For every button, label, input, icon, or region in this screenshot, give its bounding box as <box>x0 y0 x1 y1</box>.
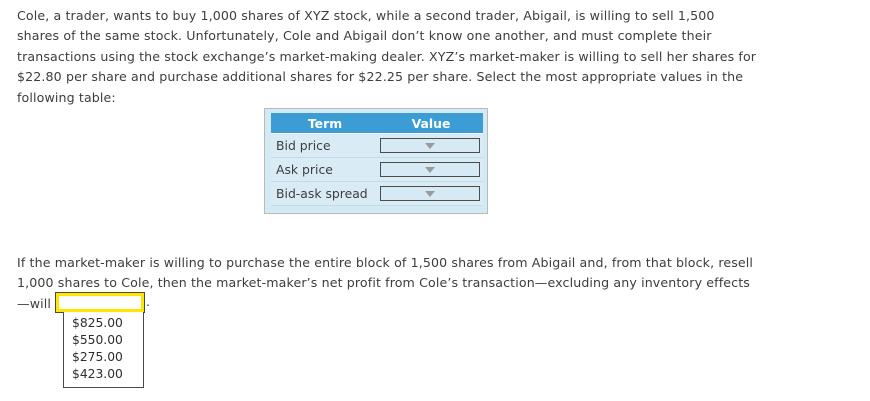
bid-ask-spread-select[interactable] <box>380 186 480 201</box>
row-label-ask-price: Ask price <box>271 158 379 182</box>
chevron-down-icon <box>425 191 435 197</box>
chevron-down-icon <box>425 167 435 173</box>
ask-price-select[interactable] <box>380 162 480 177</box>
column-header-term: Term <box>271 113 379 134</box>
row-label-bid-ask-spread: Bid-ask spread <box>271 182 379 206</box>
answer-select-input[interactable] <box>56 293 144 312</box>
table-row: Bid price <box>271 134 483 158</box>
answer-dropdown: $825.00 $550.00 $275.00 $423.00 <box>56 293 144 312</box>
option-item[interactable]: $825.00 <box>64 315 143 332</box>
chevron-down-icon <box>425 143 435 149</box>
option-item[interactable]: $423.00 <box>64 366 143 383</box>
value-cell-bid-ask-spread <box>379 182 483 206</box>
table-body: Bid price Ask price Bid-ask spread <box>271 134 483 206</box>
table-header-row: Term Value <box>271 113 483 134</box>
table-row: Bid-ask spread <box>271 182 483 206</box>
table: Term Value Bid price Ask price <box>271 113 483 206</box>
intro-paragraph: Cole, a trader, wants to buy 1,000 share… <box>17 6 759 108</box>
answer-options-list: $825.00 $550.00 $275.00 $423.00 <box>63 312 144 388</box>
sentence-period: . <box>146 294 150 309</box>
table-head: Term Value <box>271 113 483 134</box>
value-cell-bid-price <box>379 134 483 158</box>
option-item[interactable]: $275.00 <box>64 349 143 366</box>
worksheet-page: Cole, a trader, wants to buy 1,000 share… <box>0 0 870 401</box>
column-header-value: Value <box>379 113 483 134</box>
table-row: Ask price <box>271 158 483 182</box>
bid-price-select[interactable] <box>380 138 480 153</box>
row-label-bid-price: Bid price <box>271 134 379 158</box>
value-cell-ask-price <box>379 158 483 182</box>
term-value-table: Term Value Bid price Ask price <box>264 108 488 214</box>
option-item[interactable]: $550.00 <box>64 332 143 349</box>
